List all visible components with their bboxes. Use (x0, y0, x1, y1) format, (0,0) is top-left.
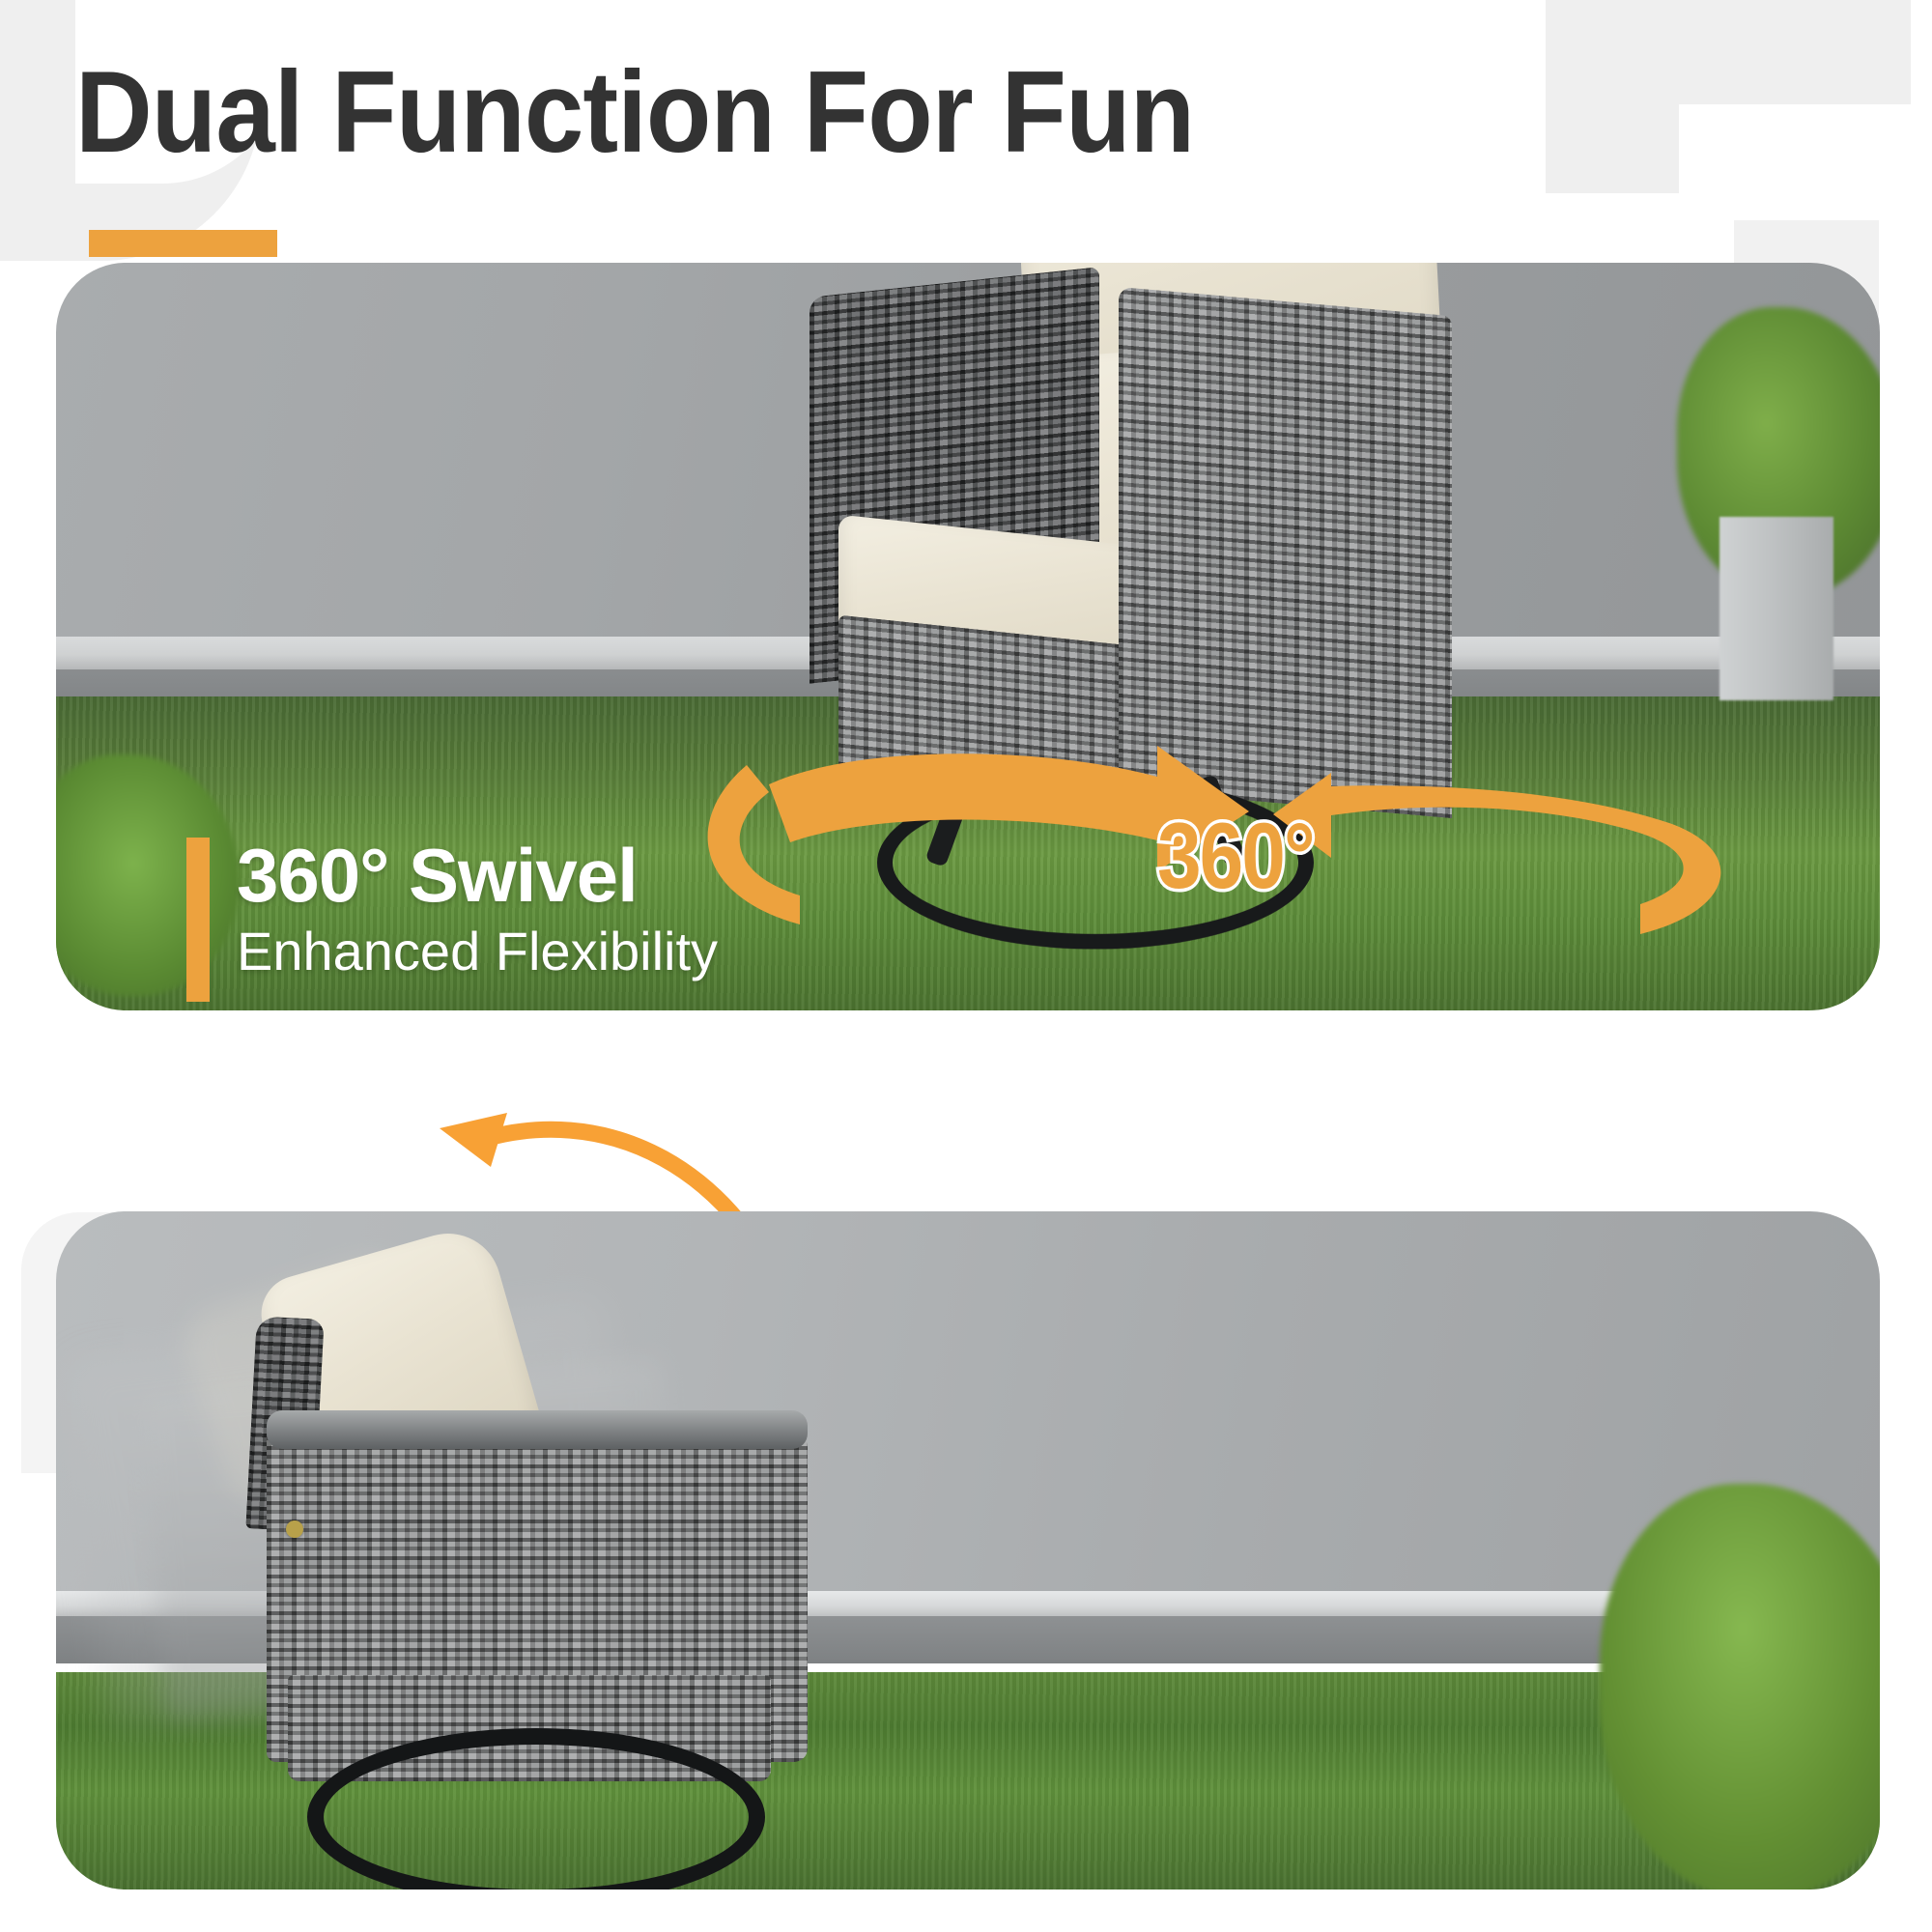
title-underline-rule (89, 230, 277, 257)
chair-arm-rail (267, 1410, 808, 1449)
badge-360-label: 360° (1157, 804, 1314, 911)
feature-subtitle: Enhanced Flexibility (237, 921, 718, 982)
feature-title: 360° Swivel (237, 838, 718, 915)
scene-rocking: Smooth Rocking Enjoy Extreme Comfort (56, 1211, 1880, 1889)
feature-panel-swivel: 360° 360° Swivel Enhanced Flexibility (56, 263, 1880, 1010)
feature-panel-rocking: Smooth Rocking Enjoy Extreme Comfort (56, 1211, 1880, 1889)
shrub-right-icon (1600, 1484, 1880, 1889)
feature-accent-bar (186, 838, 210, 1002)
rotation-arrow-graphic: 360° (655, 726, 1833, 968)
decorative-corner-block-top-right-vertical (1546, 0, 1679, 193)
product-chair-rocking (143, 1211, 838, 1889)
scene-swivel: 360° 360° Swivel Enhanced Flexibility (56, 263, 1880, 1010)
page-title: Dual Function For Fun (75, 54, 1194, 170)
feature-text-stack: 360° Swivel Enhanced Flexibility (210, 838, 718, 1002)
feature-text-swivel: 360° Swivel Enhanced Flexibility (186, 838, 718, 1002)
wall-pillar (1719, 517, 1833, 700)
chair-screw-icon (286, 1520, 303, 1538)
